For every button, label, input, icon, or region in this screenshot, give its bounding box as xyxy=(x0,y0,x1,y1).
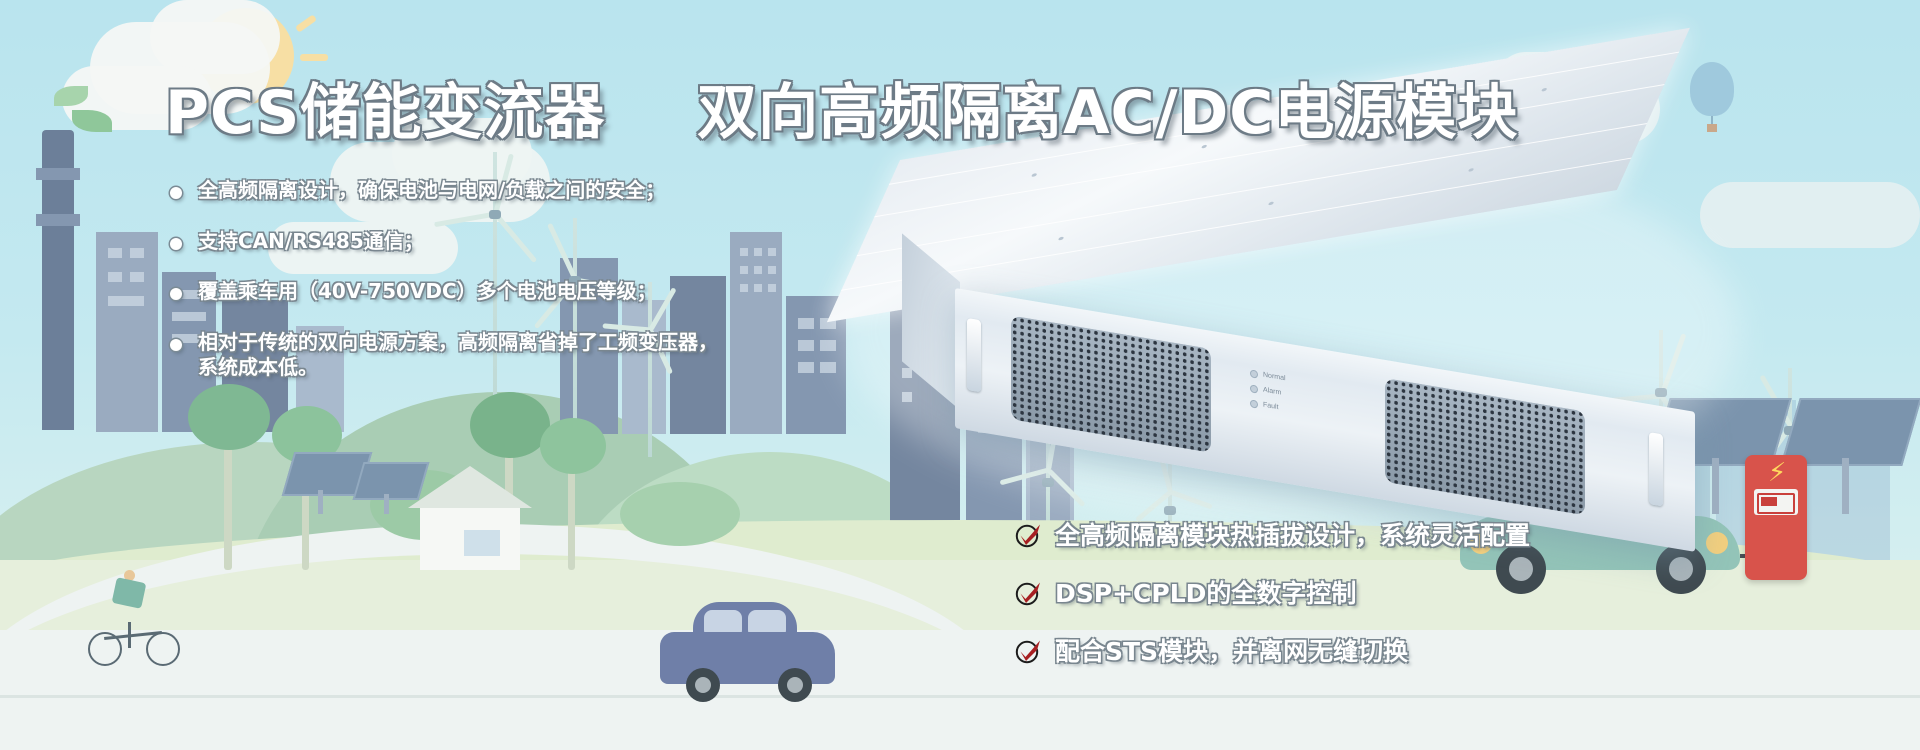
tree-foliage xyxy=(470,392,550,458)
solar-panel-leg xyxy=(318,490,323,514)
device-screw xyxy=(1268,201,1274,205)
road-edge-line xyxy=(0,695,1920,698)
device-screw xyxy=(1058,237,1064,241)
led-label: Alarm xyxy=(1263,387,1281,397)
device-vent-right xyxy=(1385,378,1585,515)
check-circle-icon xyxy=(1015,579,1042,606)
ev-wheel-hub xyxy=(1669,557,1693,581)
cyclist-body xyxy=(112,577,147,609)
house-window xyxy=(464,530,500,556)
battery-fill xyxy=(1761,497,1777,506)
pcs-rack-unit: Normal Alarm Fault xyxy=(880,160,1720,490)
bullet-dot-icon xyxy=(170,187,182,199)
device-screw xyxy=(1468,168,1474,172)
feature-text: 覆盖乘车用（40V-750VDC）多个电池电压等级； xyxy=(198,279,657,305)
cloud xyxy=(1700,182,1920,248)
solar-panel xyxy=(353,462,430,500)
cyclist xyxy=(100,570,160,620)
car-wheel-hub xyxy=(787,677,803,693)
building-window xyxy=(108,248,122,258)
product-banner: ⚡ xyxy=(0,0,1920,750)
battery-icon xyxy=(1757,493,1795,514)
bullet-dot-icon xyxy=(170,238,182,250)
title-part-1: PCS储能变流器 xyxy=(165,78,605,148)
list-item: 覆盖乘车用（40V-750VDC）多个电池电压等级； xyxy=(170,279,930,305)
device-screw xyxy=(1031,173,1037,177)
led-label: Normal xyxy=(1263,372,1286,383)
feature-text: 全高频隔离模块热插拔设计，系统灵活配置 xyxy=(1055,516,1530,552)
factory-chimney-band xyxy=(36,168,80,180)
feature-text: DSP+CPLD的全数字控制 xyxy=(1055,574,1356,610)
bullet-dot-icon xyxy=(170,339,182,351)
solar-panel-leg xyxy=(1842,458,1849,514)
sun-ray xyxy=(300,54,328,61)
bicycle-frame xyxy=(128,622,131,648)
feature-text-multiline: 相对于传统的双向电源方案，高频隔离省掉了工频变压器， 系统成本低。 xyxy=(198,330,718,381)
led-label: Fault xyxy=(1263,402,1279,412)
status-led-fault: Fault xyxy=(1251,400,1286,413)
building-window xyxy=(130,248,144,258)
ev-charging-station: ⚡ xyxy=(1745,455,1807,580)
house-roof xyxy=(408,466,532,508)
feature-text: 支持CAN/RS485通信； xyxy=(198,229,424,255)
feature-text-line-2: 系统成本低。 xyxy=(198,355,318,379)
building-window xyxy=(108,272,122,282)
device-screw xyxy=(1541,88,1547,92)
list-item: DSP+CPLD的全数字控制 xyxy=(1015,574,1530,610)
status-led-alarm: Alarm xyxy=(1251,385,1286,398)
led-dot xyxy=(1251,385,1257,392)
hot-air-balloon-icon xyxy=(1690,62,1734,116)
cloud xyxy=(150,0,280,74)
list-item: 全高频隔离设计，确保电池与电网/负载之间的安全； xyxy=(170,178,930,204)
list-item: 相对于传统的双向电源方案，高频隔离省掉了工频变压器， 系统成本低。 xyxy=(170,330,930,381)
check-circle-icon xyxy=(1015,637,1042,664)
led-dot xyxy=(1251,370,1257,377)
bicycle-wheel xyxy=(146,632,180,666)
tree-foliage xyxy=(188,384,270,450)
car-wheel-hub xyxy=(695,677,711,693)
list-item: 全高频隔离模块热插拔设计，系统灵活配置 xyxy=(1015,516,1530,552)
list-item: 支持CAN/RS485通信； xyxy=(170,229,930,255)
building-window xyxy=(108,296,144,306)
device-handle-left xyxy=(967,318,981,392)
bush xyxy=(620,482,740,546)
led-dot xyxy=(1251,400,1257,407)
device-handle-right xyxy=(1649,432,1663,506)
status-led-normal: Normal xyxy=(1251,370,1286,383)
device-status-indicators: Normal Alarm Fault xyxy=(1251,370,1286,421)
feature-text: 配合STS模块，并离网无缝切换 xyxy=(1055,632,1408,668)
left-feature-list: 全高频隔离设计，确保电池与电网/负载之间的安全； 支持CAN/RS485通信； … xyxy=(170,178,930,381)
tree-foliage xyxy=(540,418,606,474)
device-vent-left xyxy=(1011,315,1211,452)
list-item: 配合STS模块，并离网无缝切换 xyxy=(1015,632,1530,668)
right-feature-list: 全高频隔离模块热插拔设计，系统灵活配置 DSP+CPLD的全数字控制 配合STS… xyxy=(1015,516,1530,690)
ev-headlight xyxy=(1706,532,1728,554)
factory-chimney-band xyxy=(36,214,80,226)
title-part-2: 双向高频隔离AC/DC电源模块 xyxy=(697,78,1518,148)
solar-panel-leg xyxy=(384,494,389,514)
building-window xyxy=(130,272,144,282)
bullet-dot-icon xyxy=(170,288,182,300)
page-title: PCS储能变流器 双向高频隔离AC/DC电源模块 xyxy=(165,64,1518,151)
house xyxy=(408,466,532,570)
check-circle-icon xyxy=(1015,521,1042,548)
building xyxy=(96,232,158,432)
feature-text: 全高频隔离设计，确保电池与电网/负载之间的安全； xyxy=(198,178,665,204)
feature-text-line-1: 相对于传统的双向电源方案，高频隔离省掉了工频变压器， xyxy=(198,330,718,354)
